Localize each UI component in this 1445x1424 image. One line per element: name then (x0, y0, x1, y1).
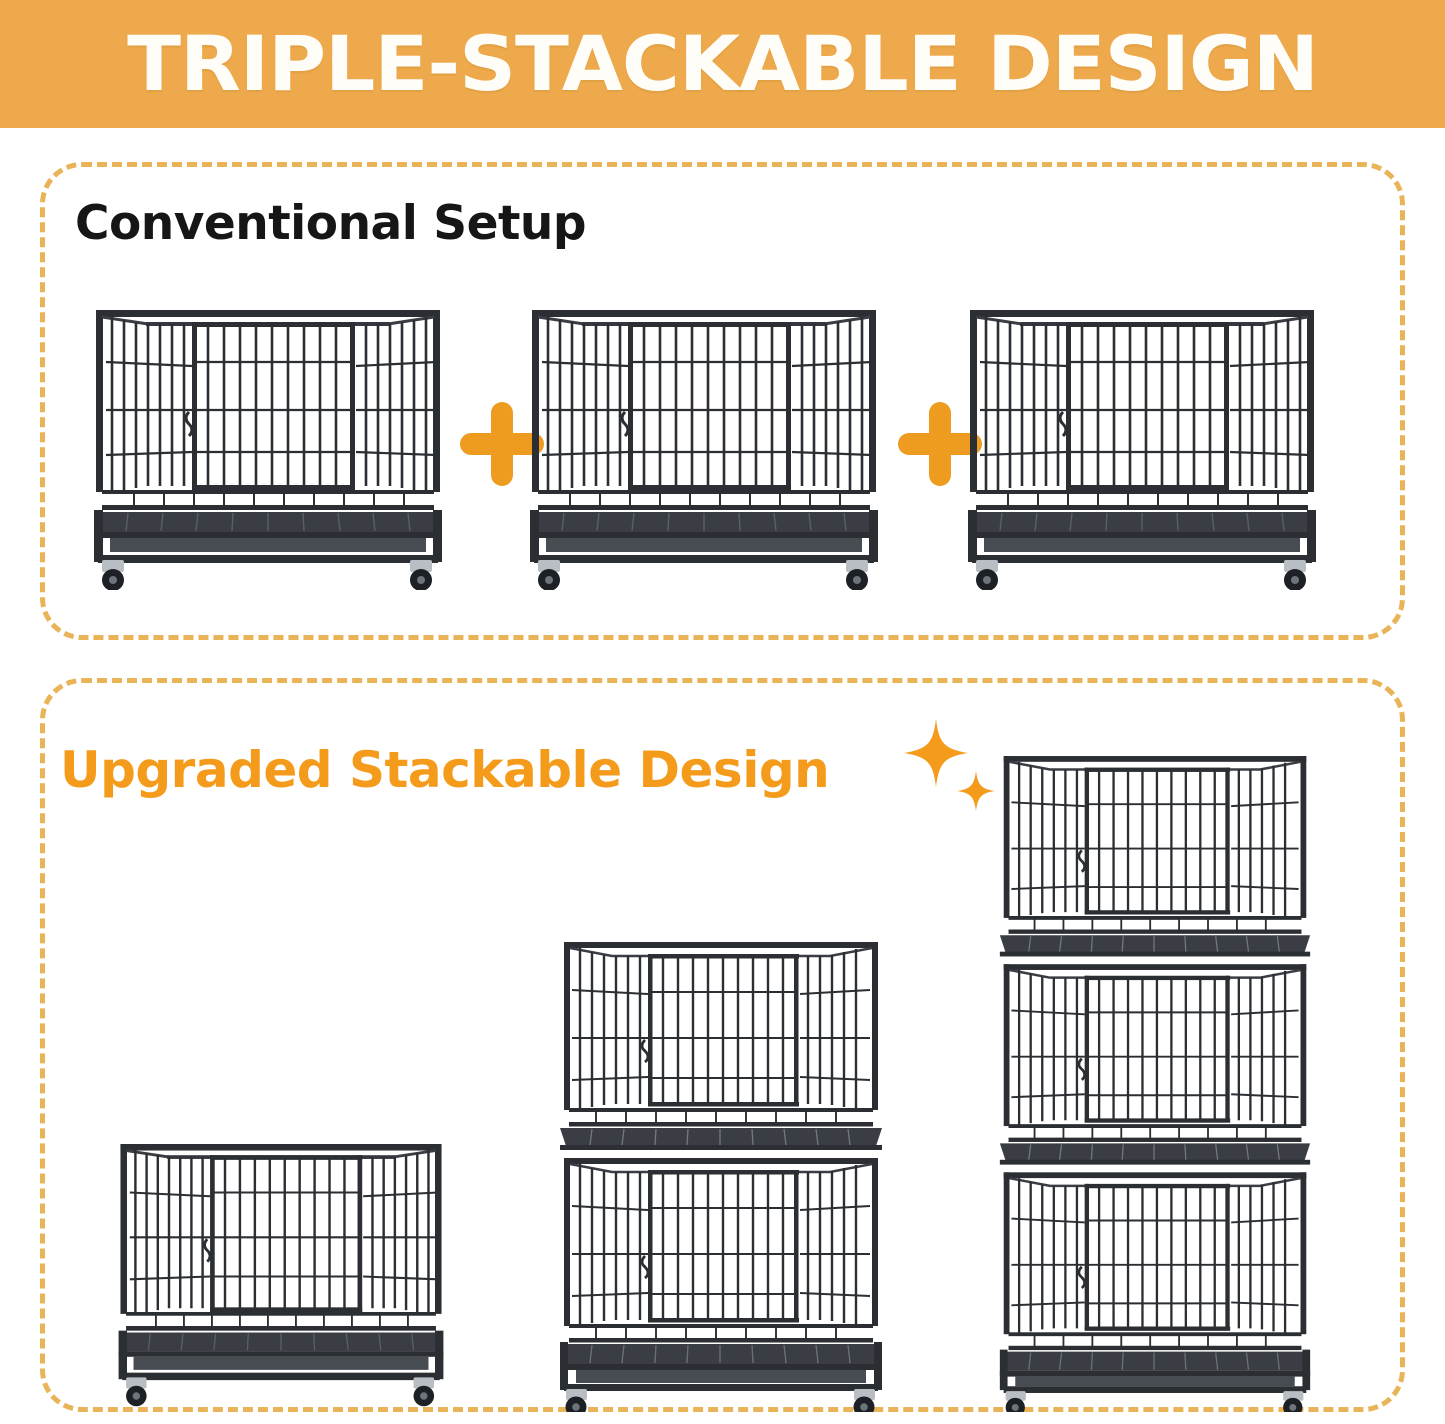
stack-two-level (556, 930, 886, 1412)
section-title-upgraded: Upgraded Stackable Design (60, 745, 829, 795)
crate-conventional-1 (88, 300, 448, 590)
crate-conventional-2 (524, 300, 884, 590)
sparkles-decoration (900, 715, 1005, 815)
stack-three-level (996, 738, 1314, 1412)
sparkle-star-large-icon (904, 719, 968, 787)
page-title: TRIPLE-STACKABLE DESIGN (127, 26, 1318, 102)
stack-one-level (113, 1128, 449, 1412)
section-title-conventional: Conventional Setup (75, 200, 586, 247)
crate-conventional-3 (962, 300, 1322, 590)
sparkle-star-small-icon (957, 771, 995, 811)
infographic-page: TRIPLE-STACKABLE DESIGN Conventional Set… (0, 0, 1445, 1424)
header-banner: TRIPLE-STACKABLE DESIGN (0, 0, 1445, 128)
